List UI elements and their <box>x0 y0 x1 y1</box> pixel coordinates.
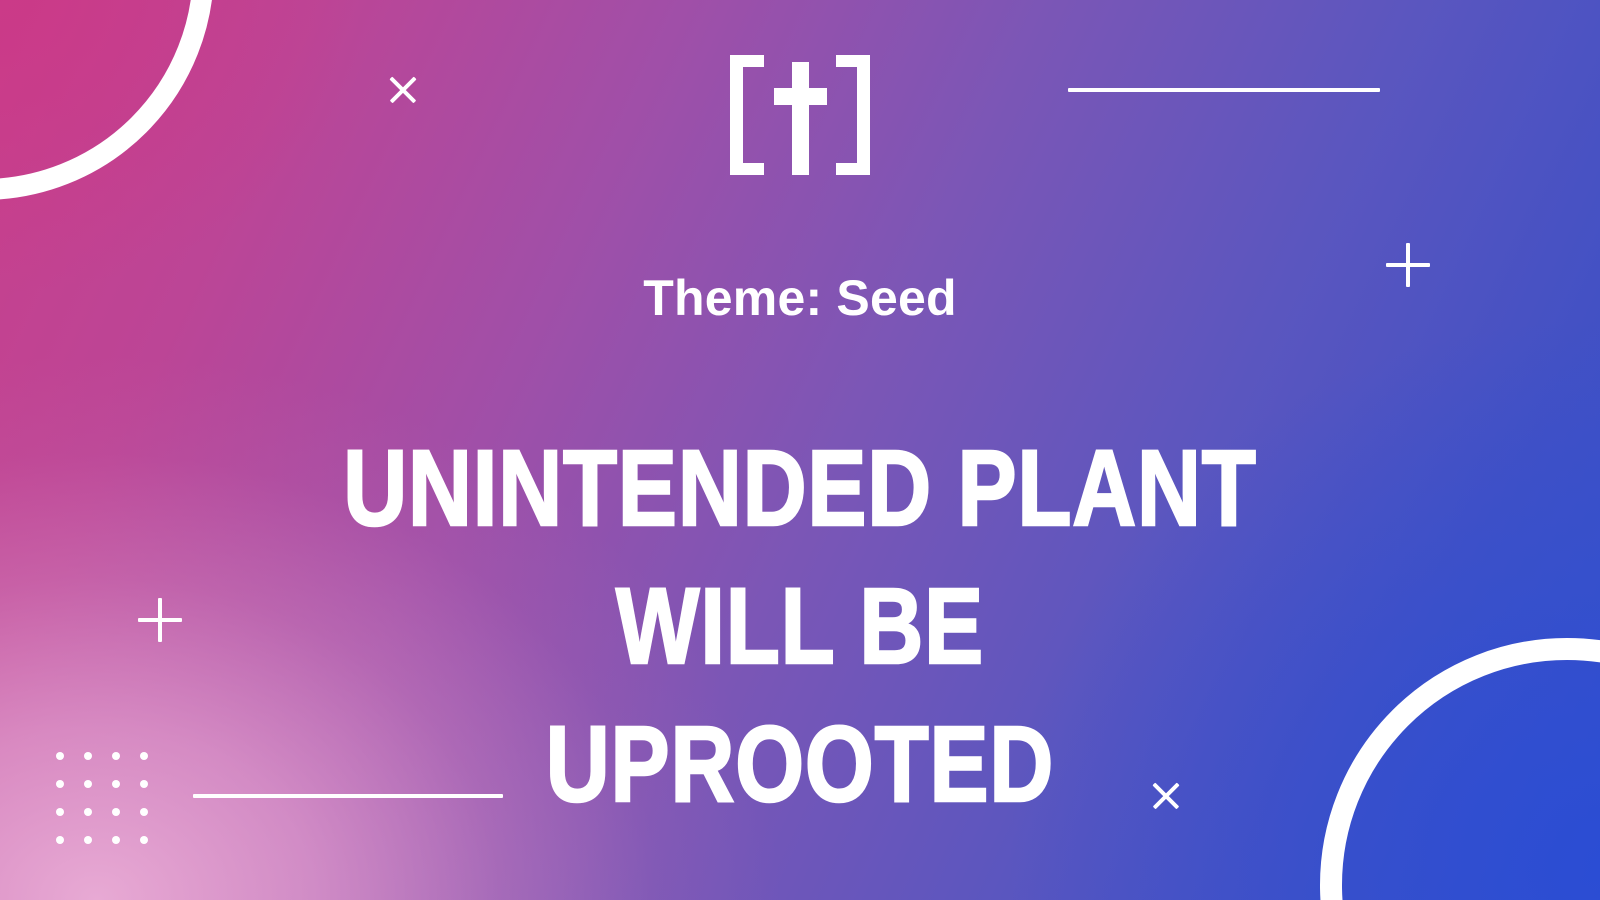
slide-content: Theme: Seed UNINTENDED PLANT WILL BE UPR… <box>0 0 1600 900</box>
presentation-slide: Theme: Seed UNINTENDED PLANT WILL BE UPR… <box>0 0 1600 900</box>
headline-line-2: UPROOTED <box>341 695 1259 833</box>
slide-subtitle: Theme: Seed <box>643 273 956 323</box>
headline-line-1: UNINTENDED PLANT WILL BE <box>341 419 1259 695</box>
bracket-cross-icon <box>730 55 870 175</box>
slide-headline: UNINTENDED PLANT WILL BE UPROOTED <box>341 419 1259 834</box>
